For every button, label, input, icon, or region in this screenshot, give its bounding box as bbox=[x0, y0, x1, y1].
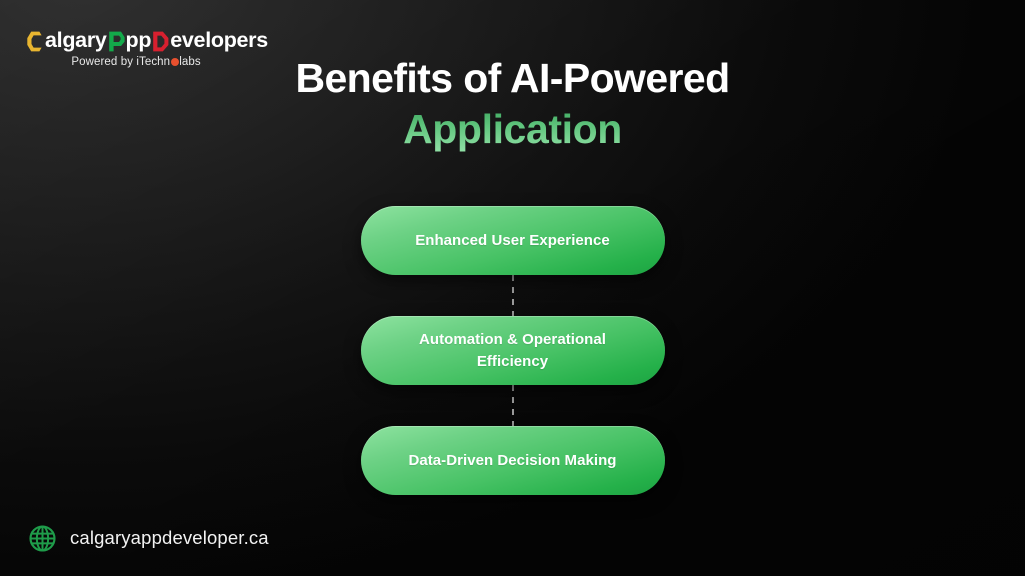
logo-hex-letter-c bbox=[26, 30, 45, 53]
slide-canvas: algary pp evelopers Powered by iTechnlab… bbox=[0, 0, 1025, 576]
globe-icon bbox=[28, 524, 57, 553]
logo-hex-letter-a bbox=[107, 30, 126, 53]
logo-text-evelopers: evelopers bbox=[170, 30, 268, 52]
benefit-card-3[interactable]: Data-Driven Decision Making bbox=[361, 426, 665, 495]
page-title-line-2: Application bbox=[0, 106, 1025, 153]
logo-hex-letter-d bbox=[151, 30, 170, 53]
logo-text-pp: pp bbox=[126, 30, 152, 52]
footer-url-text: calgaryappdeveloper.ca bbox=[70, 529, 269, 548]
logo-tagline: Powered by iTechnlabs bbox=[26, 57, 246, 69]
logo-tagline-dot-icon bbox=[171, 58, 179, 66]
flow-row-2: Automation & Operational Efficiency bbox=[0, 316, 1025, 385]
benefits-flow: Enhanced User Experience Automation & Op… bbox=[0, 206, 1025, 495]
brand-logo: algary pp evelopers Powered by iTechnlab… bbox=[26, 28, 246, 69]
flow-connector-2 bbox=[512, 385, 514, 426]
logo-tagline-before: Powered by iTechn bbox=[71, 56, 170, 68]
flow-row-1: Enhanced User Experience bbox=[0, 206, 1025, 275]
logo-text-algary: algary bbox=[45, 30, 107, 52]
logo-tagline-after: labs bbox=[179, 56, 201, 68]
benefit-card-1[interactable]: Enhanced User Experience bbox=[361, 206, 665, 275]
benefit-card-2-label: Automation & Operational Efficiency bbox=[387, 329, 639, 372]
flow-row-3: Data-Driven Decision Making bbox=[0, 426, 1025, 495]
benefit-card-3-label: Data-Driven Decision Making bbox=[408, 450, 616, 471]
footer-website[interactable]: calgaryappdeveloper.ca bbox=[28, 524, 269, 553]
page-title: Benefits of AI-Powered Application bbox=[0, 56, 1025, 153]
benefit-card-1-label: Enhanced User Experience bbox=[415, 230, 610, 251]
flow-connector-1 bbox=[512, 275, 514, 316]
benefit-card-2[interactable]: Automation & Operational Efficiency bbox=[361, 316, 665, 385]
logo-wordmark: algary pp evelopers bbox=[26, 28, 246, 54]
